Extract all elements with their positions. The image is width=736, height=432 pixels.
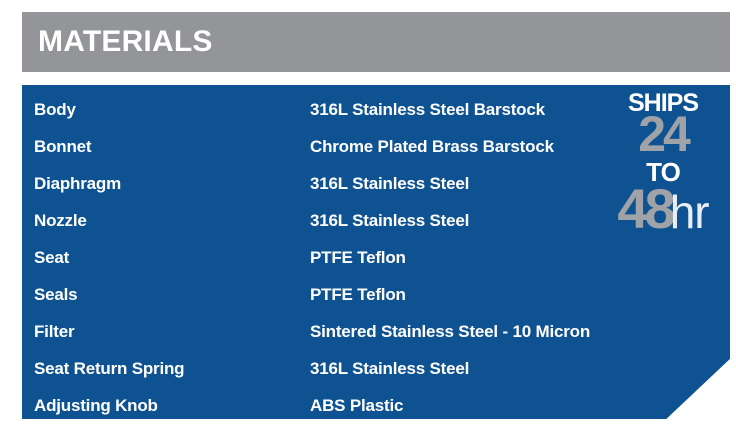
part-name: Seals [34,276,77,313]
part-name: Bonnet [34,128,91,165]
part-material: 316L Stainless Steel Barstock [310,91,545,128]
part-material: 316L Stainless Steel [310,165,469,202]
ships-badge-unit-label: hr [670,186,709,238]
part-name: Nozzle [34,202,87,239]
table-row: Filter Sintered Stainless Steel - 10 Mic… [22,313,730,350]
part-name: Adjusting Knob [34,387,158,419]
part-name: Seat Return Spring [34,350,184,387]
part-material: 316L Stainless Steel [310,202,469,239]
part-name: Filter [34,313,74,350]
materials-panel: Body 316L Stainless Steel Barstock Bonne… [22,85,730,419]
materials-spec-sheet: MATERIALS Body 316L Stainless Steel Bars… [0,0,736,432]
table-row: Seat Return Spring 316L Stainless Steel [22,350,730,387]
part-material: Sintered Stainless Steel - 10 Micron [310,313,590,350]
part-material: PTFE Teflon [310,239,406,276]
part-name: Diaphragm [34,165,121,202]
table-row: Adjusting Knob ABS Plastic [22,387,730,419]
part-material: 316L Stainless Steel [310,350,469,387]
part-name: Body [34,91,76,128]
table-row: Seals PTFE Teflon [22,276,730,313]
part-material: ABS Plastic [310,387,403,419]
ships-badge-hours-to-group: 48hr [602,181,724,237]
part-material: Chrome Plated Brass Barstock [310,128,554,165]
ships-badge-hours-from: 24 [602,109,724,159]
part-name: Seat [34,239,69,276]
header-bar: MATERIALS [22,12,730,72]
ships-badge-hours-to: 48 [617,177,671,240]
ships-badge: SHIPS 24 TO 48hr [602,89,724,249]
part-material: PTFE Teflon [310,276,406,313]
page-title: MATERIALS [38,27,213,57]
